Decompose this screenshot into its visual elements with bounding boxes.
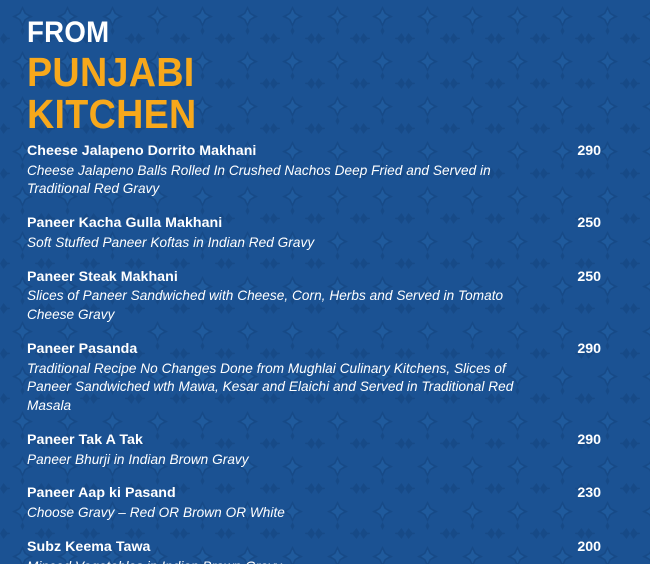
menu-item: Paneer Tak A Tak Paneer Bhurji in Indian… [27, 431, 601, 469]
menu-item-text: Subz Keema Tawa Minced Vegetables in Ind… [27, 538, 601, 564]
menu-item: Cheese Jalapeno Dorrito Makhani Cheese J… [27, 142, 601, 199]
menu-item: Paneer Pasanda Traditional Recipe No Cha… [27, 340, 601, 416]
menu-content: FROM PUNJABI KITCHEN Cheese Jalapeno Dor… [0, 0, 650, 564]
menu-item-text: Paneer Steak Makhani Slices of Paneer Sa… [27, 268, 601, 325]
menu-item-price: 290 [541, 431, 601, 450]
menu-item-description: Slices of Paneer Sandwiched with Cheese,… [27, 287, 531, 325]
menu-item-list: Cheese Jalapeno Dorrito Makhani Cheese J… [27, 142, 601, 564]
menu-item-price: 230 [541, 484, 601, 503]
menu-item-name: Paneer Aap ki Pasand [27, 484, 531, 503]
menu-item-price: 290 [541, 142, 601, 161]
menu-header: FROM PUNJABI KITCHEN [27, 18, 211, 135]
menu-item-price: 200 [541, 538, 601, 557]
menu-item-text: Paneer Pasanda Traditional Recipe No Cha… [27, 340, 601, 416]
menu-card: FROM PUNJABI KITCHEN Cheese Jalapeno Dor… [0, 0, 650, 564]
menu-item-text: Paneer Tak A Tak Paneer Bhurji in Indian… [27, 431, 601, 469]
menu-item-text: Paneer Kacha Gulla Makhani Soft Stuffed … [27, 214, 601, 252]
menu-item-text: Cheese Jalapeno Dorrito Makhani Cheese J… [27, 142, 601, 199]
menu-item: Paneer Aap ki Pasand Choose Gravy – Red … [27, 484, 601, 522]
header-line-kitchen: KITCHEN [27, 94, 197, 135]
menu-item-name: Paneer Pasanda [27, 340, 531, 359]
menu-item: Subz Keema Tawa Minced Vegetables in Ind… [27, 538, 601, 564]
menu-item-name: Paneer Tak A Tak [27, 431, 531, 450]
menu-item-price: 250 [541, 214, 601, 233]
menu-item-name: Paneer Steak Makhani [27, 268, 531, 287]
menu-item-text: Paneer Aap ki Pasand Choose Gravy – Red … [27, 484, 601, 522]
menu-item-description: Choose Gravy – Red OR Brown OR White [27, 504, 531, 523]
header-line-from: FROM [27, 18, 197, 48]
menu-item-description: Paneer Bhurji in Indian Brown Gravy [27, 451, 531, 470]
menu-item-name: Subz Keema Tawa [27, 538, 531, 557]
menu-item: Paneer Kacha Gulla Makhani Soft Stuffed … [27, 214, 601, 252]
menu-item-price: 290 [541, 340, 601, 359]
menu-item-description: Traditional Recipe No Changes Done from … [27, 360, 531, 416]
menu-item-name: Paneer Kacha Gulla Makhani [27, 214, 531, 233]
menu-item-description: Minced Vegetables in Indian Brown Gravy [27, 558, 531, 564]
menu-item: Paneer Steak Makhani Slices of Paneer Sa… [27, 268, 601, 325]
menu-item-description: Soft Stuffed Paneer Koftas in Indian Red… [27, 234, 531, 253]
menu-item-price: 250 [541, 268, 601, 287]
menu-item-description: Cheese Jalapeno Balls Rolled In Crushed … [27, 162, 531, 200]
menu-item-name: Cheese Jalapeno Dorrito Makhani [27, 142, 531, 161]
header-line-punjabi: PUNJABI [27, 52, 197, 93]
